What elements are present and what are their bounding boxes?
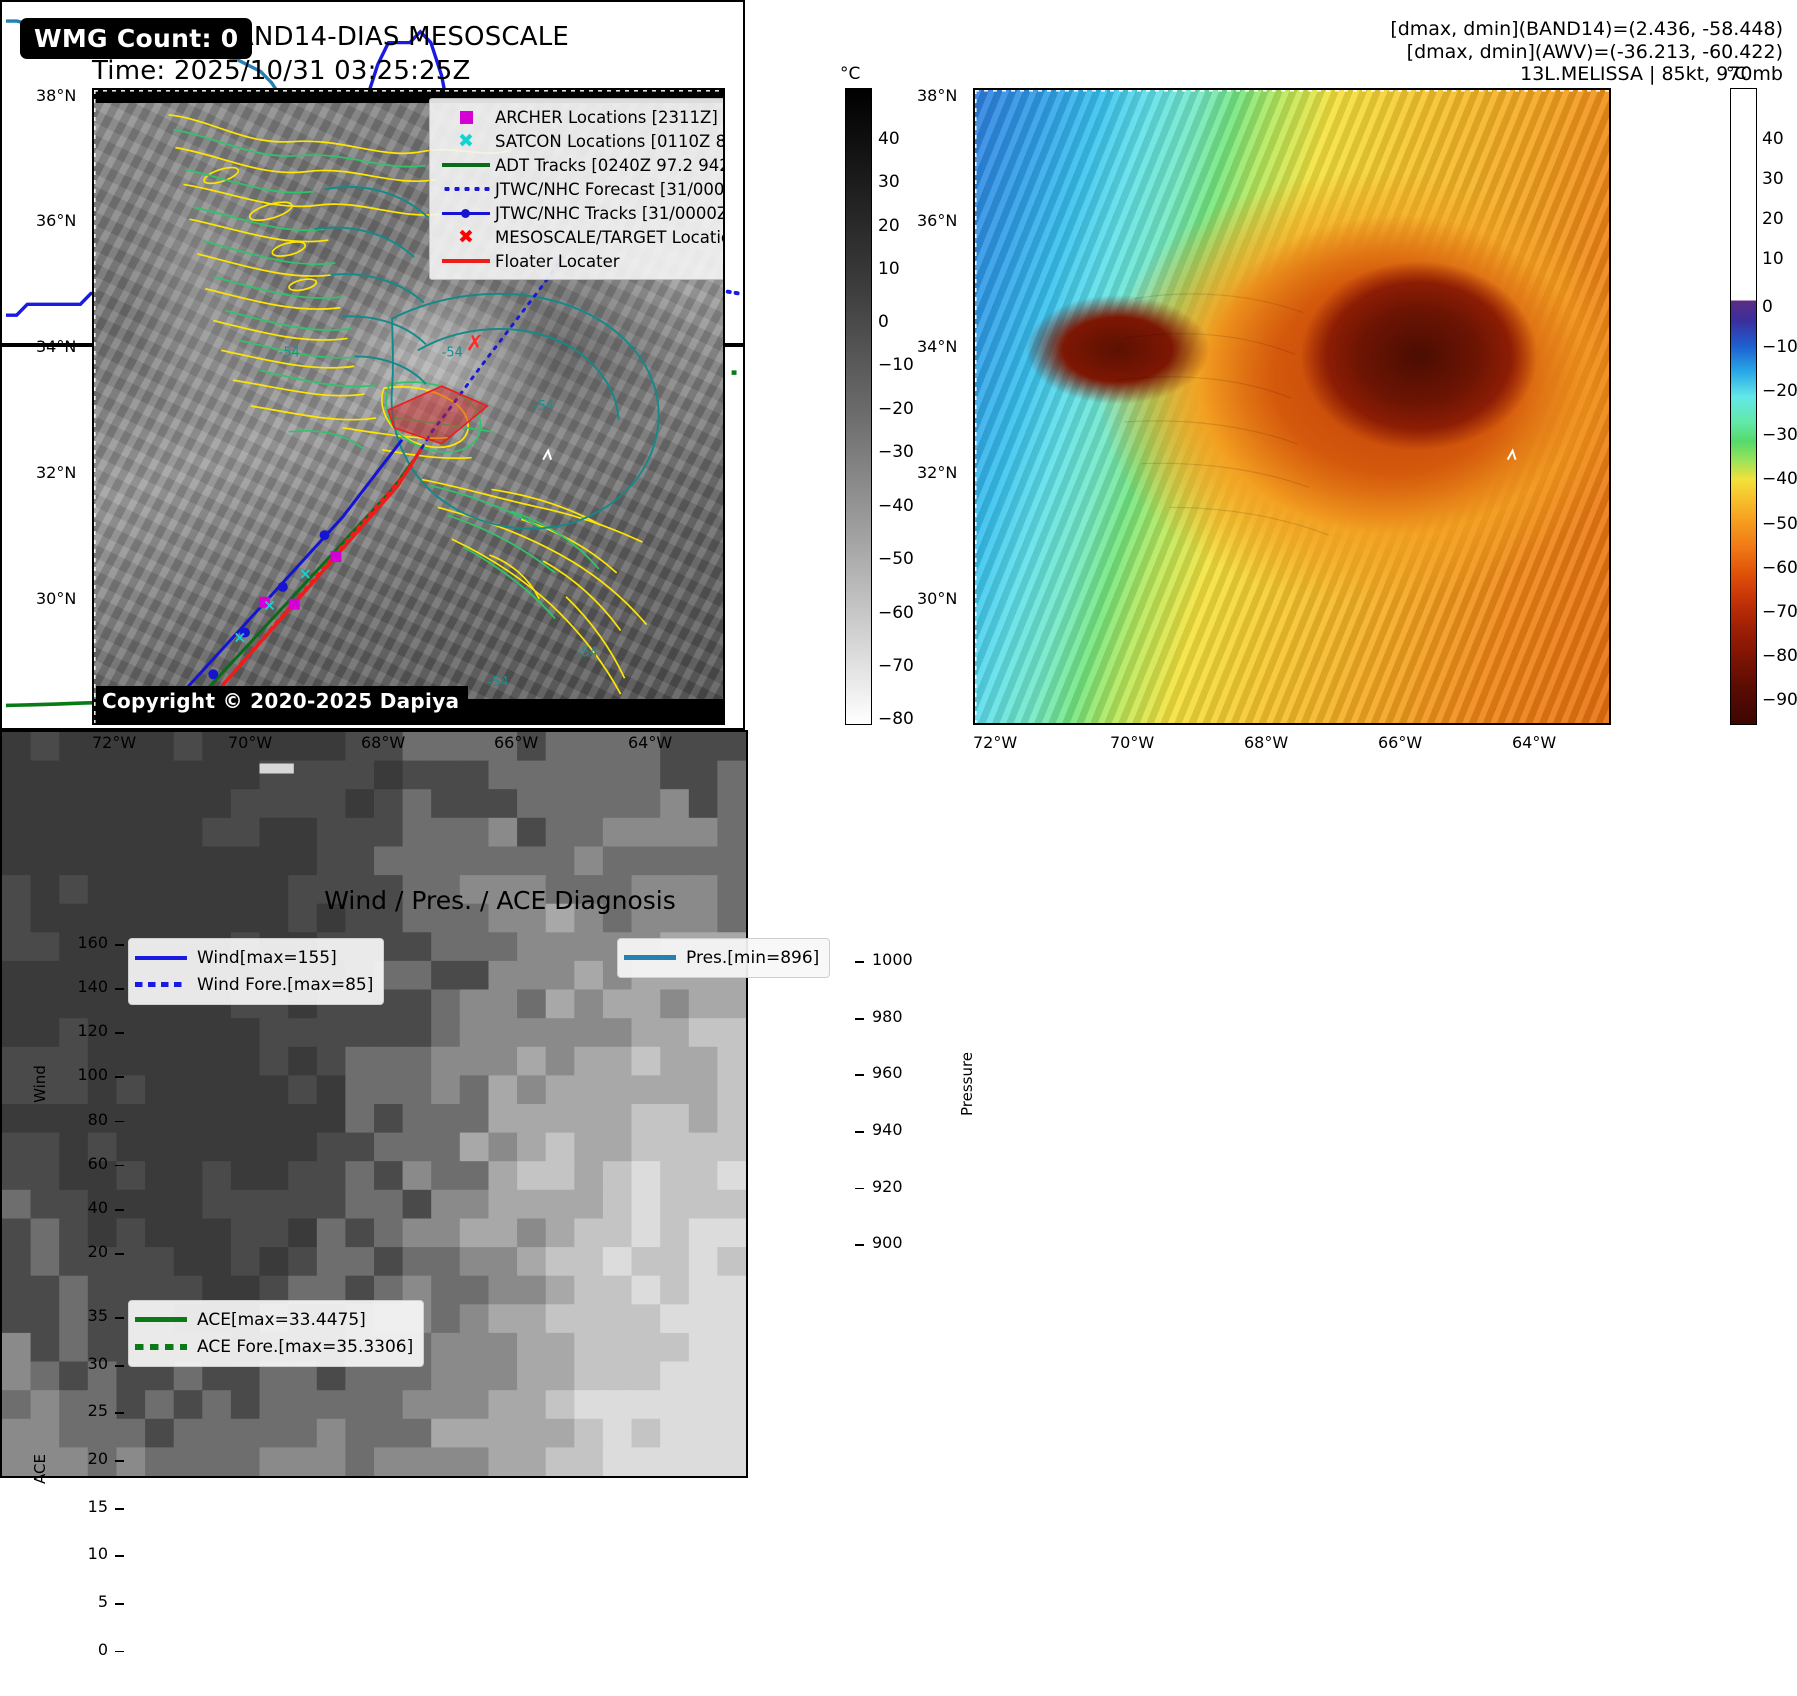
pressure-ytick: 980 (872, 1007, 903, 1026)
cb1-tick: 40 (878, 129, 900, 149)
meta-band14-range: [dmax, dmin](BAND14)=(2.436, -58.448) (1390, 18, 1783, 41)
pressure-ytick: 940 (872, 1120, 903, 1139)
wind-ytick-mark (115, 1165, 124, 1167)
svg-text:-54: -54 (533, 399, 554, 414)
red-x-icon: ✖ (437, 228, 495, 247)
cb2-tick: −80 (1762, 646, 1797, 666)
p2-lat-tick: 34°N (917, 337, 957, 356)
wind-ytick-mark (115, 988, 124, 990)
pressure-ytick: 960 (872, 1063, 903, 1082)
cb2-tick: −30 (1762, 425, 1797, 445)
ace-ytick: 10 (60, 1544, 108, 1563)
colorbar-gray-unit: °C (840, 64, 860, 84)
pressure-axis-label: Pressure (958, 1039, 976, 1129)
wind-ytick-mark (115, 1253, 124, 1255)
pressure-ytick: 920 (872, 1177, 903, 1196)
svg-text:×: × (299, 564, 312, 583)
green-line-icon (437, 163, 495, 166)
svg-text:-54: -54 (279, 345, 300, 360)
svg-text:×: × (263, 596, 276, 615)
p1-lat-tick: 36°N (36, 211, 76, 230)
ace-ytick-mark (115, 1508, 124, 1510)
cb2-tick: −70 (1762, 602, 1797, 622)
p1-lat-tick: 30°N (36, 589, 76, 608)
pressure-ytick: 900 (872, 1233, 903, 1252)
cb1-tick: −20 (878, 399, 914, 419)
blue-solid-line-icon (135, 956, 197, 960)
svg-text:-54: -54 (442, 345, 463, 360)
ace-ytick-mark (115, 1317, 124, 1319)
cb2-tick: 10 (1762, 249, 1784, 269)
legend-label: SATCON Locations [0110Z 83 956] (495, 132, 725, 151)
cb2-tick: 0 (1762, 297, 1773, 317)
copyright-notice: Copyright © 2020-2025 Dapiya (96, 686, 468, 717)
p2-lon-tick: 64°W (1512, 733, 1556, 752)
legend-row-adt-tracks[interactable]: ADT Tracks [0240Z 97.2 942.7] (437, 153, 725, 177)
p1-lat-tick: 34°N (36, 337, 76, 356)
cb1-tick: 20 (878, 216, 900, 236)
teal-solid-line-icon (624, 955, 686, 960)
pressure-ytick-mark (855, 1018, 864, 1020)
p2-lon-tick: 70°W (1110, 733, 1154, 752)
cb1-tick: 30 (878, 172, 900, 192)
ace-ytick: 20 (60, 1449, 108, 1468)
colorbar-grayscale (845, 88, 872, 725)
pressure-chart-legend[interactable]: Pres.[min=896] (617, 938, 830, 978)
cb2-tick: −40 (1762, 469, 1797, 489)
ace-ytick-mark (115, 1365, 124, 1367)
wind-ytick: 20 (60, 1242, 108, 1261)
legend-label: ARCHER Locations [2311Z] (495, 108, 718, 127)
ace-chart-legend[interactable]: ACE[max=33.4475] ACE Fore.[max=35.3306] (128, 1300, 424, 1367)
color-ir-texture (975, 90, 1609, 723)
blue-line-marker-icon (437, 209, 495, 218)
legend-label: Wind Fore.[max=85] (197, 975, 373, 995)
cb2-tick: 30 (1762, 169, 1784, 189)
colorbar-color-unit: °C (1726, 64, 1746, 84)
p2-lon-tick: 72°W (973, 733, 1017, 752)
svg-text:-54: -54 (487, 675, 508, 690)
wind-ytick-mark (115, 1032, 124, 1034)
cb1-tick: −70 (878, 656, 914, 676)
legend-row-archer[interactable]: ARCHER Locations [2311Z] (437, 105, 725, 129)
cb2-tick: 20 (1762, 209, 1784, 229)
ace-ytick: 30 (60, 1354, 108, 1373)
p1-lat-tick: 38°N (36, 86, 76, 105)
cb1-tick: −50 (878, 549, 914, 569)
cyan-x-icon: ✖ (437, 132, 495, 151)
map-legend[interactable]: ARCHER Locations [2311Z] ✖ SATCON Locati… (429, 98, 725, 280)
svg-text:-54: -54 (577, 645, 598, 660)
p1-lon-tick: 68°W (361, 733, 405, 752)
cb1-tick: 10 (878, 259, 900, 279)
cb2-tick: −20 (1762, 381, 1797, 401)
p1-lon-tick: 72°W (92, 733, 136, 752)
cb1-tick: −40 (878, 496, 914, 516)
svg-text:×: × (233, 627, 246, 646)
color-ir-panel[interactable] (973, 88, 1611, 725)
pressure-ytick-mark (855, 1074, 864, 1076)
p2-lat-tick: 36°N (917, 211, 957, 230)
ace-ytick: 5 (60, 1592, 108, 1611)
red-line-icon (437, 259, 495, 262)
legend-row-mesoscale-target[interactable]: ✖ MESOSCALE/TARGET Location (437, 225, 725, 249)
legend-row-wind-forecast[interactable]: Wind Fore.[max=85] (135, 971, 373, 998)
wind-ytick: 60 (60, 1154, 108, 1173)
ace-ytick: 35 (60, 1306, 108, 1325)
p2-lon-tick: 68°W (1244, 733, 1288, 752)
ace-ytick-mark (115, 1651, 124, 1653)
wind-chart-legend[interactable]: Wind[max=155] Wind Fore.[max=85] (128, 938, 384, 1005)
p1-lon-tick: 70°W (228, 733, 272, 752)
green-solid-line-icon (135, 1317, 197, 1322)
legend-row-ace[interactable]: ACE[max=33.4475] (135, 1306, 413, 1333)
legend-row-jtwc-tracks[interactable]: JTWC/NHC Tracks [31/0000Z] (437, 201, 725, 225)
grayscale-ir-panel[interactable]: -54 -54 -54 -54 -54 ××× ✗ (92, 88, 725, 725)
legend-row-satcon[interactable]: ✖ SATCON Locations [0110Z 83 956] (437, 129, 725, 153)
cb2-tick: −60 (1762, 558, 1797, 578)
metadata-block: [dmax, dmin](BAND14)=(2.436, -58.448) [d… (1390, 18, 1783, 86)
cb1-tick: −10 (878, 355, 914, 375)
legend-label: JTWC/NHC Tracks [31/0000Z] (495, 204, 725, 223)
pressure-ytick-mark (855, 1131, 864, 1133)
cb2-tick: −10 (1762, 337, 1797, 357)
wind-ytick-mark (115, 1121, 124, 1123)
cb2-tick: −50 (1762, 514, 1797, 534)
blue-dotted-line-icon (437, 187, 495, 191)
cb2-tick: 40 (1762, 129, 1784, 149)
p1-lon-tick: 64°W (628, 733, 672, 752)
legend-label: MESOSCALE/TARGET Location (495, 228, 725, 247)
wind-ytick: 120 (60, 1021, 108, 1040)
magenta-square-icon (437, 111, 495, 124)
wind-ytick-mark (115, 944, 124, 946)
ace-ytick: 25 (60, 1401, 108, 1420)
ace-ytick: 0 (60, 1640, 108, 1659)
wind-ytick: 100 (60, 1065, 108, 1084)
pressure-ytick-mark (855, 1188, 864, 1190)
meta-storm-id: 13L.MELISSA | 85kt, 970mb (1390, 63, 1783, 86)
cb1-tick: −60 (878, 603, 914, 623)
ace-ytick-mark (115, 1603, 124, 1605)
cb1-tick: 0 (878, 312, 889, 332)
legend-label: ADT Tracks [0240Z 97.2 942.7] (495, 156, 725, 175)
svg-text:✗: ✗ (466, 331, 484, 356)
pressure-ytick-mark (855, 1244, 864, 1246)
legend-label: JTWC/NHC Forecast [31/0000Z] (495, 180, 725, 199)
legend-row-jtwc-forecast[interactable]: JTWC/NHC Forecast [31/0000Z] (437, 177, 725, 201)
pressure-ytick: 1000 (872, 950, 913, 969)
cb2-tick: −90 (1762, 690, 1797, 710)
blue-dotted-line-icon (135, 982, 197, 987)
colorbar-enhanced-ir (1730, 88, 1757, 725)
legend-row-ace-forecast[interactable]: ACE Fore.[max=35.3306] (135, 1333, 413, 1360)
cb1-tick: −30 (878, 442, 914, 462)
cb1-tick: −80 (878, 709, 914, 729)
wind-ytick: 40 (60, 1198, 108, 1217)
legend-row-floater-locater[interactable]: Floater Locater (437, 249, 725, 273)
pressure-ytick-mark (855, 961, 864, 963)
green-dotted-line-icon (135, 1344, 197, 1350)
p2-lon-tick: 66°W (1378, 733, 1422, 752)
ace-axis-label: ACE (31, 1424, 49, 1514)
legend-row-pressure[interactable]: Pres.[min=896] (624, 944, 819, 971)
p2-lat-tick: 32°N (917, 463, 957, 482)
legend-label: Floater Locater (495, 252, 620, 271)
ace-ytick-mark (115, 1555, 124, 1557)
legend-label: ACE[max=33.4475] (197, 1310, 366, 1330)
wind-ytick: 140 (60, 977, 108, 996)
ace-ytick-mark (115, 1460, 124, 1462)
chart-title: Wind / Pres. / ACE Diagnosis (0, 886, 1000, 915)
legend-label: Wind[max=155] (197, 948, 337, 968)
ace-ytick: 15 (60, 1497, 108, 1516)
p2-lat-tick: 30°N (917, 589, 957, 608)
p2-lat-tick: 38°N (917, 86, 957, 105)
ace-ytick-mark (115, 1412, 124, 1414)
legend-label: Pres.[min=896] (686, 948, 819, 968)
wind-ytick-mark (115, 1076, 124, 1078)
legend-label: ACE Fore.[max=35.3306] (197, 1337, 413, 1357)
wind-axis-label: Wind (31, 1039, 49, 1129)
timestamp-line: Time: 2025/10/31 03:25:25Z (92, 54, 569, 88)
p1-lat-tick: 32°N (36, 463, 76, 482)
wind-ytick-mark (115, 1209, 124, 1211)
wind-ytick: 160 (60, 933, 108, 952)
wind-ytick: 80 (60, 1110, 108, 1129)
p1-lon-tick: 66°W (494, 733, 538, 752)
meta-awv-range: [dmax, dmin](AWV)=(-36.213, -60.422) (1390, 41, 1783, 64)
legend-row-wind[interactable]: Wind[max=155] (135, 944, 373, 971)
